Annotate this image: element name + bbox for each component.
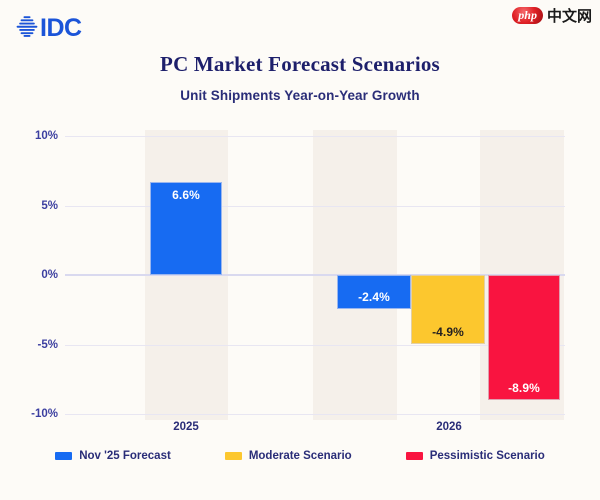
x-axis-tick-2026: 2026 — [436, 421, 462, 433]
chart-title: PC Market Forecast Scenarios — [0, 52, 600, 77]
bar-2025-nov25-forecast[interactable]: 6.6% — [150, 182, 222, 275]
legend-item-nov25-forecast[interactable]: Nov '25 Forecast — [55, 450, 171, 462]
chart-plot-area: 10% 5% 0% -5% -10% 6.6% -2.4% -4.9% -8.9… — [65, 130, 565, 420]
y-axis-tick-neg10: -10% — [13, 408, 58, 420]
php-watermark: php 中文网 — [512, 5, 592, 26]
legend-swatch-icon — [406, 452, 423, 460]
bar-2026-pessimistic-scenario[interactable]: -8.9% — [488, 275, 560, 400]
gridline-neg10 — [65, 414, 565, 415]
bar-value-label: 6.6% — [151, 188, 221, 202]
x-axis-tick-2025: 2025 — [173, 421, 199, 433]
legend-item-moderate-scenario[interactable]: Moderate Scenario — [225, 450, 352, 462]
chart-subtitle: Unit Shipments Year-on-Year Growth — [0, 88, 600, 103]
striped-globe-icon — [16, 14, 38, 43]
gridline-10 — [65, 136, 565, 137]
gridline-5 — [65, 206, 565, 207]
bar-2026-moderate-scenario[interactable]: -4.9% — [411, 275, 485, 344]
legend-label: Moderate Scenario — [249, 450, 352, 462]
bar-2026-nov25-forecast[interactable]: -2.4% — [337, 275, 411, 309]
bar-value-label: -2.4% — [338, 290, 410, 304]
watermark-site-text: 中文网 — [547, 5, 592, 26]
legend-item-pessimistic-scenario[interactable]: Pessimistic Scenario — [406, 450, 545, 462]
y-axis-tick-0: 0% — [13, 269, 58, 281]
bar-value-label: -4.9% — [412, 325, 484, 339]
y-axis-tick-neg5: -5% — [13, 339, 58, 351]
bar-value-label: -8.9% — [489, 381, 559, 395]
legend-swatch-icon — [225, 452, 242, 460]
legend-swatch-icon — [55, 452, 72, 460]
y-axis-tick-5: 5% — [13, 200, 58, 212]
y-axis-tick-10: 10% — [13, 130, 58, 142]
legend-label: Nov '25 Forecast — [79, 450, 171, 462]
php-badge: php — [512, 7, 543, 24]
chart-legend: Nov '25 Forecast Moderate Scenario Pessi… — [0, 450, 600, 462]
idc-logo: IDC — [16, 14, 82, 43]
idc-wordmark: IDC — [40, 16, 82, 41]
legend-label: Pessimistic Scenario — [430, 450, 545, 462]
